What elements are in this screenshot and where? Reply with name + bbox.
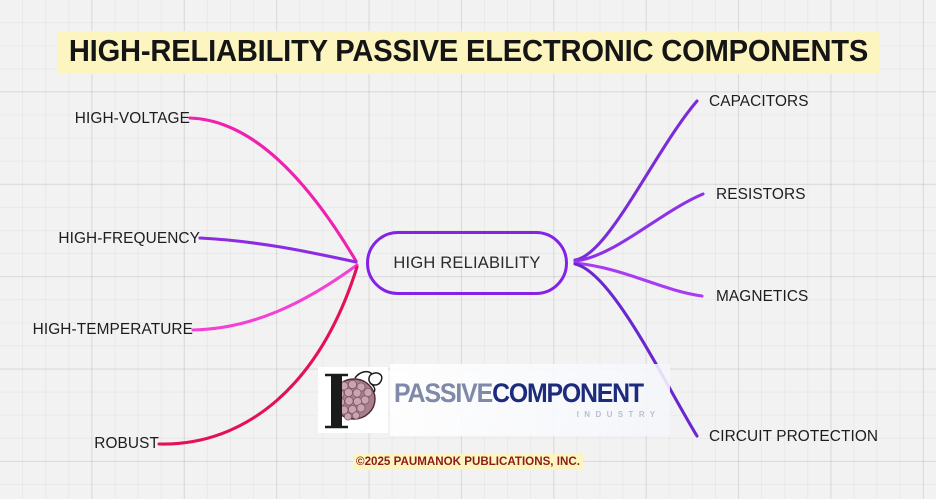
branch-label-text: HIGH-FREQUENCY (58, 230, 200, 247)
branch-label-text: RESISTORS (716, 186, 806, 203)
branch-label-capacitors[interactable]: CAPACITORS (709, 94, 809, 109)
branch-label-text: CIRCUIT PROTECTION (709, 428, 878, 445)
logo-word-passive: PASSIVE (394, 378, 492, 408)
logo-wordmark: PASSIVECOMPONENT INDUSTRY (390, 364, 670, 436)
edge-resistors (575, 194, 703, 261)
branch-label-resistors[interactable]: RESISTORS (716, 187, 806, 202)
branch-label-text: ROBUST (94, 435, 159, 452)
branch-label-text: HIGH-VOLTAGE (75, 110, 190, 127)
branch-label-text: HIGH-TEMPERATURE (33, 321, 193, 338)
branch-label-magnetics[interactable]: MAGNETICS (716, 289, 808, 304)
grape-p-logo-icon (318, 367, 388, 433)
branch-label-circuit-protection[interactable]: CIRCUIT PROTECTION (709, 429, 878, 444)
branch-label-text: MAGNETICS (716, 288, 808, 305)
paumanok-logo: PASSIVECOMPONENT INDUSTRY (318, 366, 576, 434)
branch-label-robust[interactable]: ROBUST (0, 436, 165, 451)
logo-word-industry: INDUSTRY (394, 410, 664, 419)
logo-wordmark-line: PASSIVECOMPONENT (394, 380, 643, 407)
center-node[interactable]: HIGH RELIABILITY (366, 231, 568, 295)
branch-label-high-voltage[interactable]: HIGH-VOLTAGE (0, 111, 196, 126)
branch-label-high-frequency[interactable]: HIGH-FREQUENCY (0, 231, 206, 246)
branch-label-high-temperature[interactable]: HIGH-TEMPERATURE (0, 322, 199, 337)
edge-magnetics (575, 263, 702, 296)
branch-label-text: CAPACITORS (709, 93, 809, 110)
edge-capacitors (575, 101, 697, 260)
logo-word-component: COMPONENT (492, 378, 643, 408)
edge-high-temperature (193, 265, 357, 330)
center-node-label: HIGH RELIABILITY (393, 254, 540, 273)
edge-high-frequency (200, 238, 356, 262)
